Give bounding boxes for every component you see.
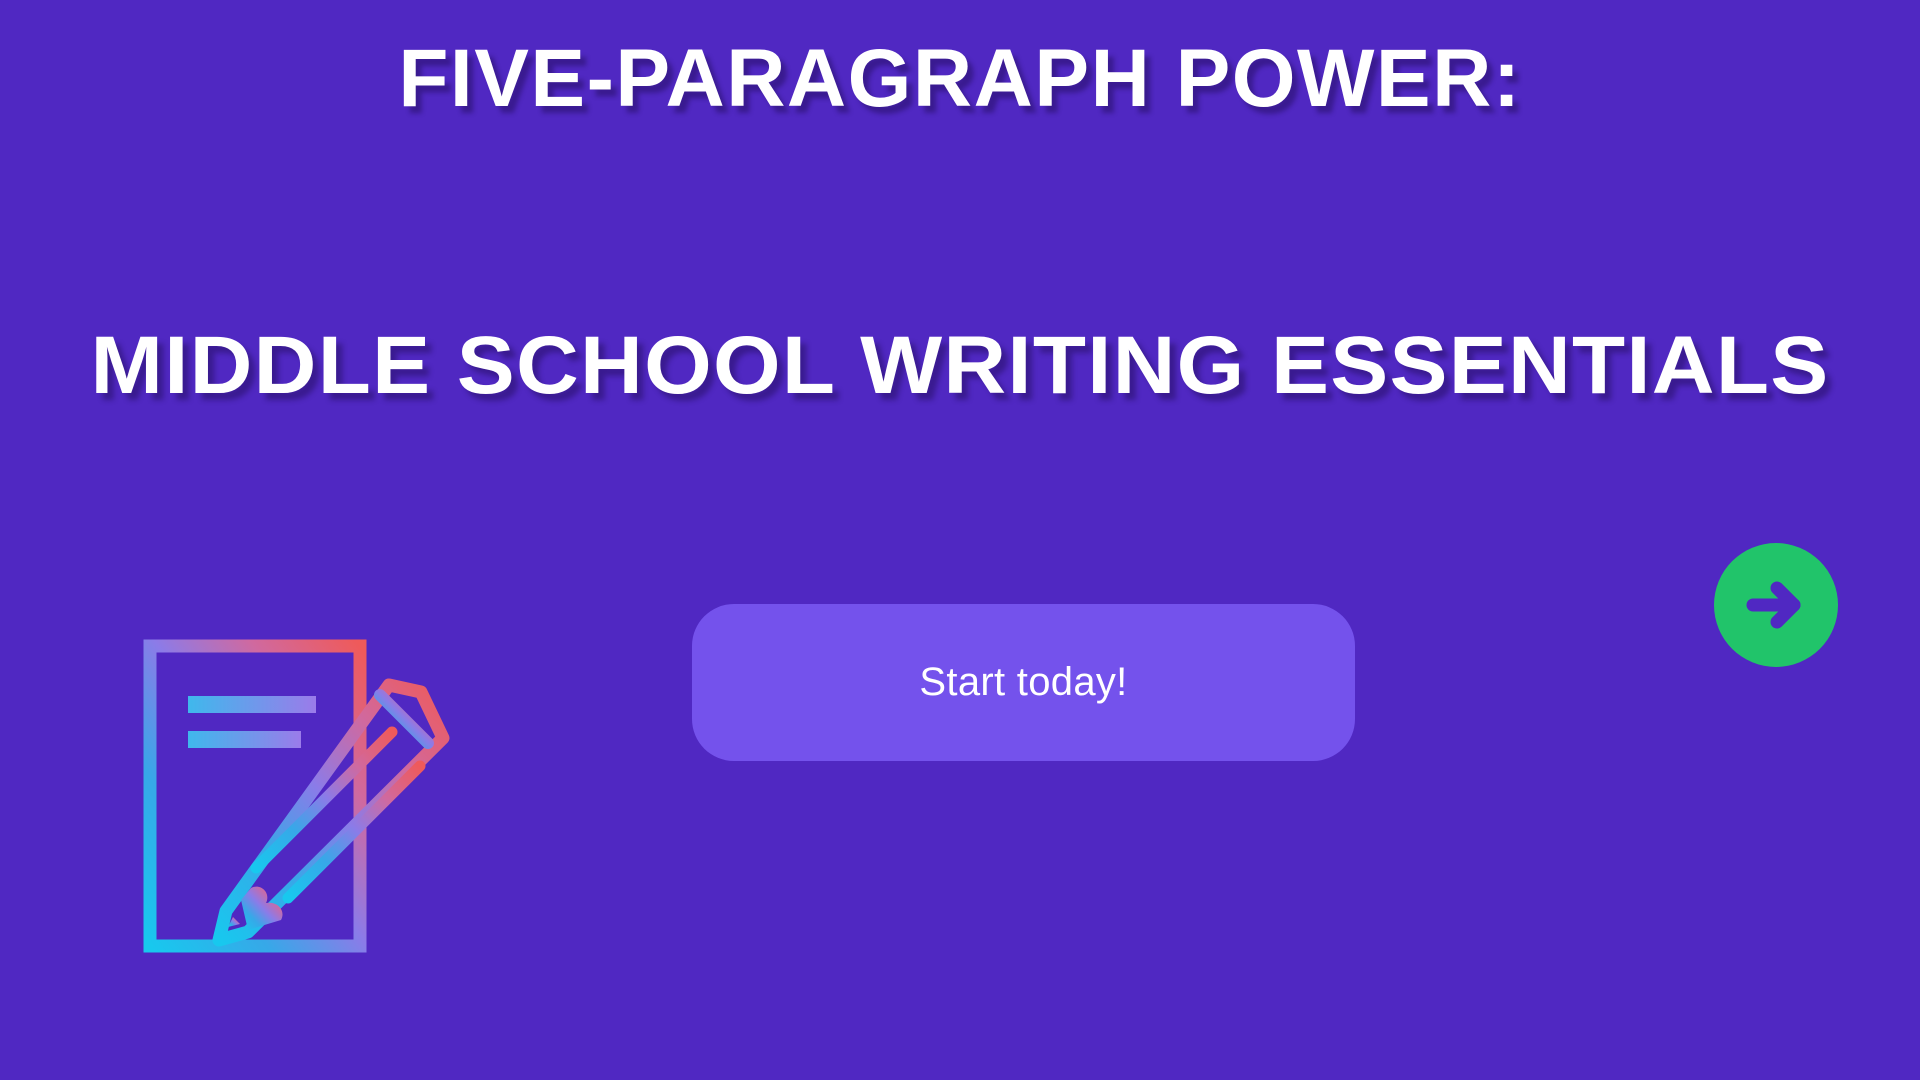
start-today-button[interactable]: Start today! — [692, 604, 1355, 761]
slide-canvas: FIVE-PARAGRAPH POWER: MIDDLE SCHOOL WRIT… — [0, 0, 1920, 1080]
page-title-line-1: FIVE-PARAGRAPH POWER: — [0, 38, 1920, 120]
page-title-line-2: MIDDLE SCHOOL WRITING ESSENTIALS — [0, 325, 1920, 407]
start-today-button-label: Start today! — [919, 660, 1127, 705]
next-arrow-button[interactable] — [1714, 543, 1838, 667]
document-with-pencil-icon — [140, 630, 500, 980]
arrow-right-icon — [1736, 565, 1816, 645]
